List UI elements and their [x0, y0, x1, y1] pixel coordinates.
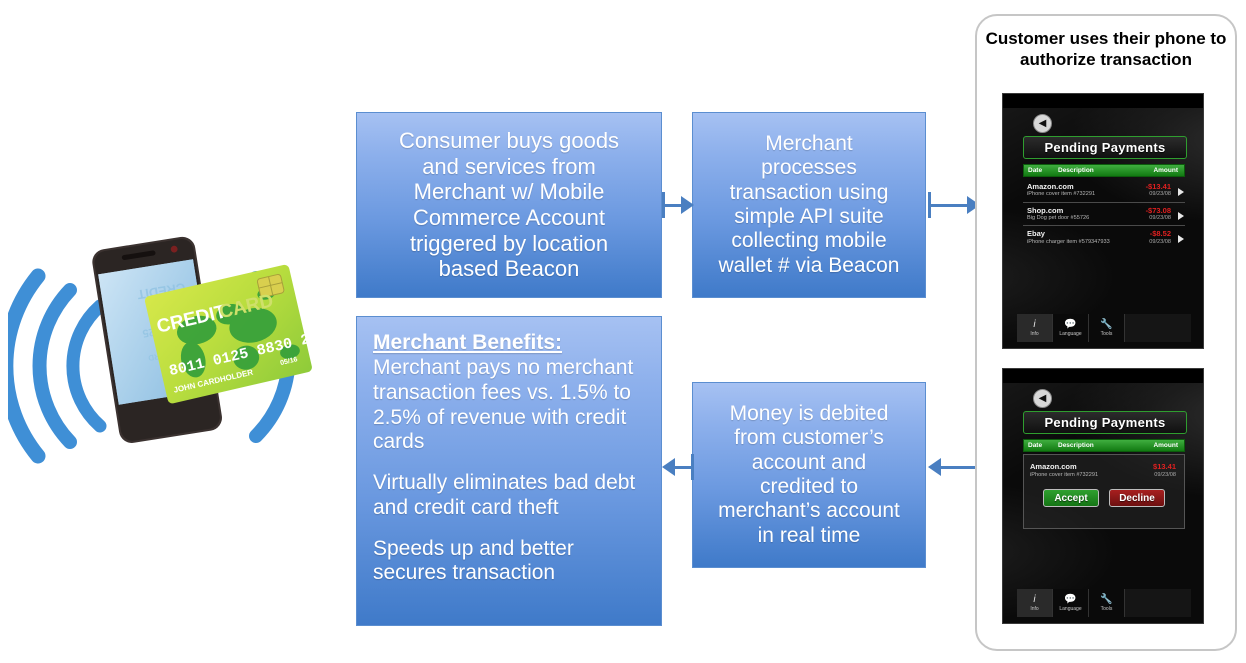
tab-label: Info [1030, 607, 1038, 612]
authorization-actions: Accept Decline [1024, 489, 1184, 507]
tab-info[interactable]: i Info [1017, 589, 1053, 617]
row-amount: -$8.52 [1113, 229, 1171, 238]
process-box-merchant: Merchant processes transaction using sim… [692, 112, 926, 298]
box-line: triggered by location [369, 231, 649, 257]
screen-title: Pending Payments [1023, 136, 1187, 159]
chevron-right-icon[interactable] [1178, 235, 1184, 243]
arrow-consumer-to-merchant [662, 190, 694, 220]
bottom-tab-bar: i Info 💬 Language 🔧 Tools [1017, 589, 1191, 617]
tab-tools[interactable]: 🔧 Tools [1089, 314, 1125, 342]
box-line: based Beacon [369, 256, 649, 282]
speech-bubble-icon: 💬 [1064, 319, 1076, 330]
column-header-date: Date [1024, 442, 1054, 449]
decline-button[interactable]: Decline [1109, 489, 1165, 507]
table-header: Date Description Amount [1023, 164, 1185, 177]
table-row[interactable]: Amazon.com iPhone cover item #732291 -$1… [1023, 179, 1185, 203]
back-chevron-icon[interactable]: ◀ [1033, 114, 1052, 133]
tab-label: Language [1059, 607, 1081, 612]
arrow-merchant-to-phone [928, 190, 980, 220]
transactions-list: Amazon.com iPhone cover item #732291 -$1… [1023, 179, 1185, 249]
back-chevron-icon[interactable]: ◀ [1033, 389, 1052, 408]
row-date: 09/23/08 [1113, 191, 1171, 198]
speech-bubble-icon: 💬 [1064, 594, 1076, 605]
row-item: iPhone charger item #579347933 [1027, 239, 1113, 246]
info-icon: i [1033, 319, 1035, 330]
box-line: from customer’s [703, 426, 915, 450]
box-line: wallet # via Beacon [703, 254, 915, 278]
transaction-detail-card: Amazon.com iPhone cover item #732291 $13… [1023, 454, 1185, 529]
screen-title: Pending Payments [1023, 411, 1187, 434]
phone-nfc-illustration: CREDIT 8011 0125 JOHN CARD [8, 218, 328, 478]
box-line: transaction using [703, 181, 915, 205]
box-line: simple API suite [703, 205, 915, 229]
phone-screenshot-pending-payments-list: ◀ Pending Payments Date Description Amou… [1002, 93, 1204, 349]
column-header-description: Description [1054, 442, 1130, 449]
diagram-canvas: CREDIT 8011 0125 JOHN CARD [0, 0, 1246, 663]
column-header-description: Description [1054, 167, 1130, 174]
wrench-icon: 🔧 [1100, 594, 1112, 605]
row-item: iPhone cover item #732291 [1027, 191, 1113, 198]
arrow-phone-to-money [928, 452, 980, 482]
box-line: in real time [703, 524, 915, 548]
box-line: Merchant [703, 132, 915, 156]
row-merchant: Ebay [1027, 229, 1113, 238]
bottom-tab-bar: i Info 💬 Language 🔧 Tools [1017, 314, 1191, 342]
benefit-item: Merchant pays no merchant transaction fe… [373, 356, 647, 455]
box-line: account and [703, 451, 915, 475]
tab-bar-filler [1125, 314, 1191, 342]
chevron-right-icon[interactable] [1178, 212, 1184, 220]
row-date: 09/23/08 [1113, 239, 1171, 246]
column-header-date: Date [1024, 167, 1054, 174]
column-header-amount: Amount [1130, 167, 1184, 174]
process-box-consumer: Consumer buys goods and services from Me… [356, 112, 662, 298]
table-row: Amazon.com iPhone cover item #732291 $13… [1024, 455, 1184, 479]
table-row[interactable]: Shop.com Big Dog pet door #55726 -$73.08… [1023, 203, 1185, 227]
row-amount: -$13.41 [1113, 182, 1171, 191]
benefits-heading: Merchant Benefits: [373, 331, 647, 355]
tab-tools[interactable]: 🔧 Tools [1089, 589, 1125, 617]
tab-label: Language [1059, 332, 1081, 337]
nfc-illustration-svg: CREDIT 8011 0125 JOHN CARD [8, 218, 328, 478]
box-line: Merchant w/ Mobile [369, 179, 649, 205]
row-amount: $13.41 [1124, 462, 1176, 472]
box-line: collecting mobile [703, 229, 915, 253]
box-line: merchant’s account [703, 499, 915, 523]
box-line: Consumer buys goods [369, 128, 649, 154]
benefit-item: Virtually eliminates bad debt and credit… [373, 471, 647, 521]
row-date: 09/23/08 [1113, 215, 1171, 222]
row-item: Big Dog pet door #55726 [1027, 215, 1113, 222]
box-line: Commerce Account [369, 205, 649, 231]
row-merchant: Amazon.com [1030, 462, 1124, 472]
benefit-item: Speeds up and better secures transaction [373, 537, 647, 587]
phone-screenshot-authorize-payment: ◀ Pending Payments Date Description Amou… [1002, 368, 1204, 624]
row-merchant: Shop.com [1027, 206, 1113, 215]
column-header-amount: Amount [1130, 442, 1184, 449]
tab-label: Tools [1101, 332, 1113, 337]
wrench-icon: 🔧 [1100, 319, 1112, 330]
box-line: processes [703, 156, 915, 180]
tab-info[interactable]: i Info [1017, 314, 1053, 342]
chevron-right-icon[interactable] [1178, 188, 1184, 196]
process-box-money-settlement: Money is debited from customer’s account… [692, 382, 926, 568]
tab-language[interactable]: 💬 Language [1053, 589, 1089, 617]
panel-title: Customer uses their phone to authorize t… [977, 28, 1235, 71]
box-line: Money is debited [703, 402, 915, 426]
row-date: 09/23/08 [1124, 472, 1176, 480]
nfc-wave-arcs-left [8, 276, 100, 456]
status-bar [1003, 369, 1203, 383]
box-line: credited to [703, 475, 915, 499]
tab-language[interactable]: 💬 Language [1053, 314, 1089, 342]
row-amount: -$73.08 [1113, 206, 1171, 215]
box-line: and services from [369, 154, 649, 180]
tab-label: Tools [1101, 607, 1113, 612]
accept-button[interactable]: Accept [1043, 489, 1099, 507]
info-icon: i [1033, 594, 1035, 605]
table-header: Date Description Amount [1023, 439, 1185, 452]
row-item: iPhone cover item #732291 [1030, 472, 1124, 480]
status-bar [1003, 94, 1203, 108]
tab-bar-filler [1125, 589, 1191, 617]
tab-label: Info [1030, 332, 1038, 337]
process-box-merchant-benefits: Merchant Benefits: Merchant pays no merc… [356, 316, 662, 626]
row-merchant: Amazon.com [1027, 182, 1113, 191]
table-row[interactable]: Ebay iPhone charger item #579347933 -$8.… [1023, 226, 1185, 249]
arrow-money-to-benefits [662, 452, 694, 482]
